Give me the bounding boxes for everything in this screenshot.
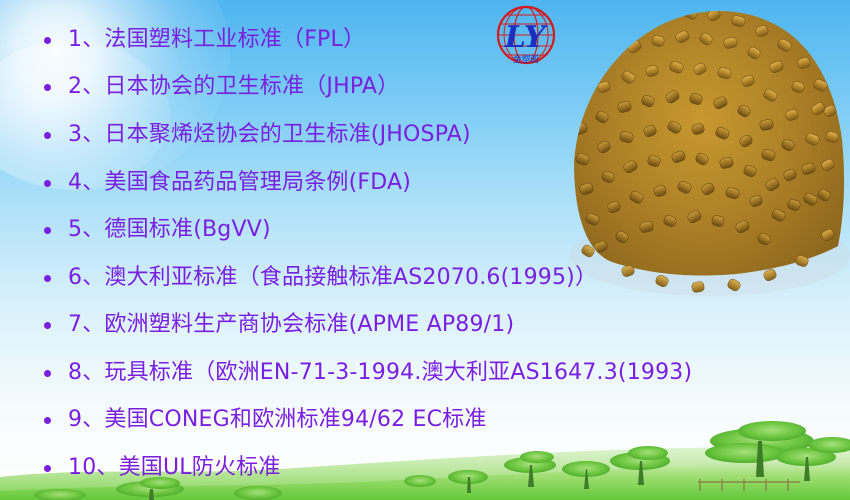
list-item: 5、德国标准(BgVV) <box>44 213 271 247</box>
bullet-dot-icon <box>44 322 51 329</box>
bullet-dot-icon <box>44 417 51 424</box>
list-item-label: 5、德国标准(BgVV) <box>68 216 271 244</box>
presentation-slide: LY 金塑阁 1、法国塑料工业标准（FPL） 2、日本协会的卫生标准（JHPA）… <box>0 0 850 500</box>
bullet-dot-icon <box>44 132 51 139</box>
standards-bullet-list: 1、法国塑料工业标准（FPL） 2、日本协会的卫生标准（JHPA） 3、日本聚烯… <box>0 0 850 500</box>
bullet-dot-icon <box>44 180 51 187</box>
list-item-label: 4、美国食品药品管理局条例(FDA) <box>68 169 411 197</box>
bullet-dot-icon <box>44 227 51 234</box>
bullet-dot-icon <box>44 37 51 44</box>
bullet-dot-icon <box>44 465 51 472</box>
list-item-label: 9、美国CONEG和欧洲标准94/62 EC标准 <box>68 406 487 434</box>
list-item-label: 1、法国塑料工业标准（FPL） <box>68 26 365 54</box>
list-item: 1、法国塑料工业标准（FPL） <box>44 23 365 57</box>
list-item: 8、玩具标准（欧洲EN-71-3-1994.澳大利亚AS1647.3(1993) <box>44 356 692 390</box>
list-item: 3、日本聚烯烃协会的卫生标准(JHOSPA) <box>44 118 471 152</box>
list-item: 4、美国食品药品管理局条例(FDA) <box>44 166 411 200</box>
list-item-label: 10、美国UL防火标准 <box>68 454 281 482</box>
list-item: 6、澳大利亚标准（食品接触标准AS2070.6(1995)） <box>44 261 597 295</box>
list-item: 2、日本协会的卫生标准（JHPA） <box>44 70 399 104</box>
list-item-label: 7、欧洲塑料生产商协会标准(APME AP89/1) <box>68 311 514 339</box>
list-item-label: 3、日本聚烯烃协会的卫生标准(JHOSPA) <box>68 121 471 149</box>
list-item: 7、欧洲塑料生产商协会标准(APME AP89/1) <box>44 308 514 342</box>
list-item-label: 2、日本协会的卫生标准（JHPA） <box>68 73 399 101</box>
list-item-label: 8、玩具标准（欧洲EN-71-3-1994.澳大利亚AS1647.3(1993) <box>68 359 692 387</box>
bullet-dot-icon <box>44 84 51 91</box>
list-item: 10、美国UL防火标准 <box>44 451 281 485</box>
list-item-label: 6、澳大利亚标准（食品接触标准AS2070.6(1995)） <box>68 264 597 292</box>
bullet-dot-icon <box>44 275 51 282</box>
bullet-dot-icon <box>44 370 51 377</box>
list-item: 9、美国CONEG和欧洲标准94/62 EC标准 <box>44 403 487 437</box>
